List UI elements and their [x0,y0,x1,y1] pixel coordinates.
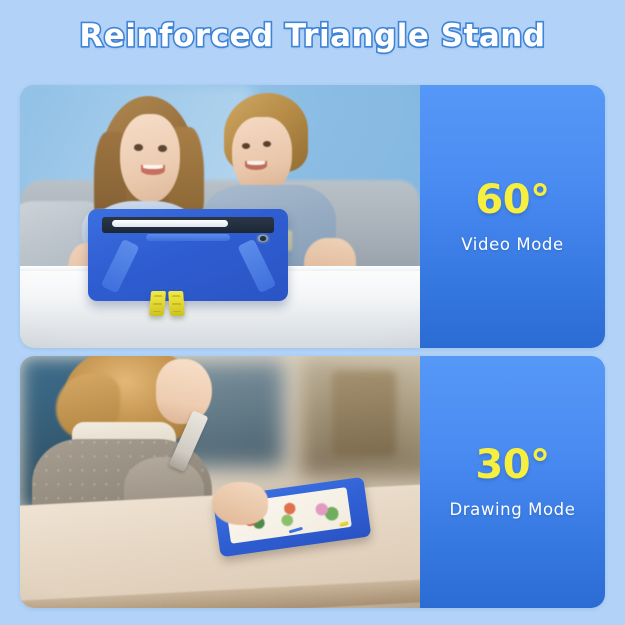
girl-face [120,114,180,203]
feature-card-drawing: 30° Drawing Mode [20,356,605,608]
tablet-carry-handle [112,220,228,227]
camera-cutout-icon [256,233,270,243]
boy-eye-left [242,143,250,149]
mode-label-drawing: Drawing Mode [449,500,575,519]
child-hand-holding-stylus [212,482,268,525]
angle-value-drawing: 30° [475,445,549,485]
kickstand-leg-left [149,291,166,316]
girl-eye-right [158,145,167,152]
product-feature-page: Reinforced Triangle Stand [0,0,625,625]
mode-label-video: Video Mode [461,235,563,254]
card-inner: 60° Video Mode [20,85,605,348]
kickstand-leg-right [168,291,185,316]
artwork-flower-right [304,497,343,525]
boy-face [232,117,292,196]
info-panel-drawing-mode: 30° Drawing Mode [420,356,605,608]
boy-eye-right [263,141,271,147]
info-panel-video-mode: 60° Video Mode [420,85,605,348]
tablet-case-video-mode [88,209,288,301]
page-title-container: Reinforced Triangle Stand [0,18,625,54]
feature-card-video: 60° Video Mode [20,85,605,348]
photo-wooden-chair [332,371,396,457]
girl-eye-left [134,144,143,151]
girl-smile [141,165,165,174]
card-inner: 30° Drawing Mode [20,356,605,608]
angle-value-video: 60° [475,180,549,220]
case-x-reinforcement [100,236,276,293]
photo-video-mode [20,85,420,348]
page-title: Reinforced Triangle Stand [79,18,545,54]
photo-drawing-mode [20,356,420,608]
